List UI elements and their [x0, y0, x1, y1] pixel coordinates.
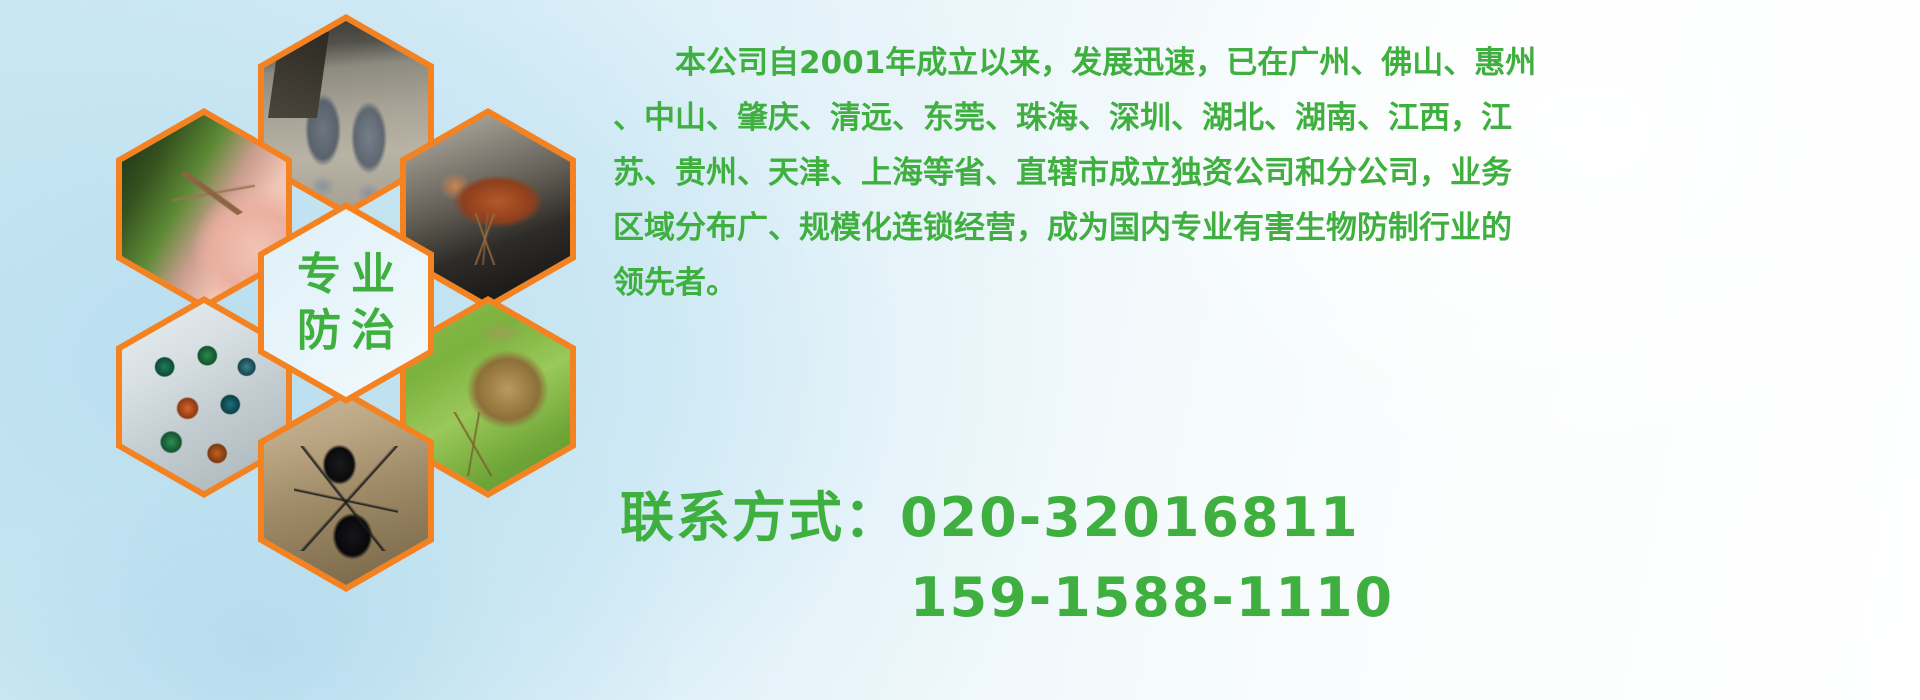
- ant-icon: [264, 397, 428, 585]
- hexagon-photo-cluster: 专业 防治: [90, 8, 590, 568]
- promo-banner: 专业 防治 本公司自2001年成立以来，发展迅速，已在广州、佛山、惠州 、中山、…: [0, 0, 1920, 700]
- about-line-5: 领先者。: [613, 256, 1903, 311]
- copy-column: 本公司自2001年成立以来，发展迅速，已在广州、佛山、惠州 、中山、肇庆、清远、…: [613, 36, 1903, 311]
- about-line-3: 苏、贵州、天津、上海等省、直辖市成立独资公司和分公司，业务: [613, 146, 1903, 201]
- slogan-line-2: 防治: [287, 309, 405, 353]
- slogan-line-1: 专业: [287, 253, 405, 297]
- about-line-4: 区域分布广、规模化连锁经营，成为国内专业有害生物防制行业的: [613, 201, 1903, 256]
- about-line-1: 本公司自2001年成立以来，发展迅速，已在广州、佛山、惠州: [613, 36, 1903, 91]
- contact-block: 联系方式：020-32016811 159-1588-1110: [620, 478, 1910, 638]
- about-line-2: 、中山、肇庆、清远、东莞、珠海、深圳、湖北、湖南、江西，江: [613, 91, 1903, 146]
- about-paragraph: 本公司自2001年成立以来，发展迅速，已在广州、佛山、惠州 、中山、肇庆、清远、…: [613, 36, 1903, 311]
- phone-primary[interactable]: 020-32016811: [900, 486, 1360, 549]
- phone-secondary[interactable]: 159-1588-1110: [620, 558, 1910, 638]
- contact-primary-line: 联系方式：020-32016811: [620, 478, 1910, 558]
- contact-label: 联系方式：: [620, 486, 900, 549]
